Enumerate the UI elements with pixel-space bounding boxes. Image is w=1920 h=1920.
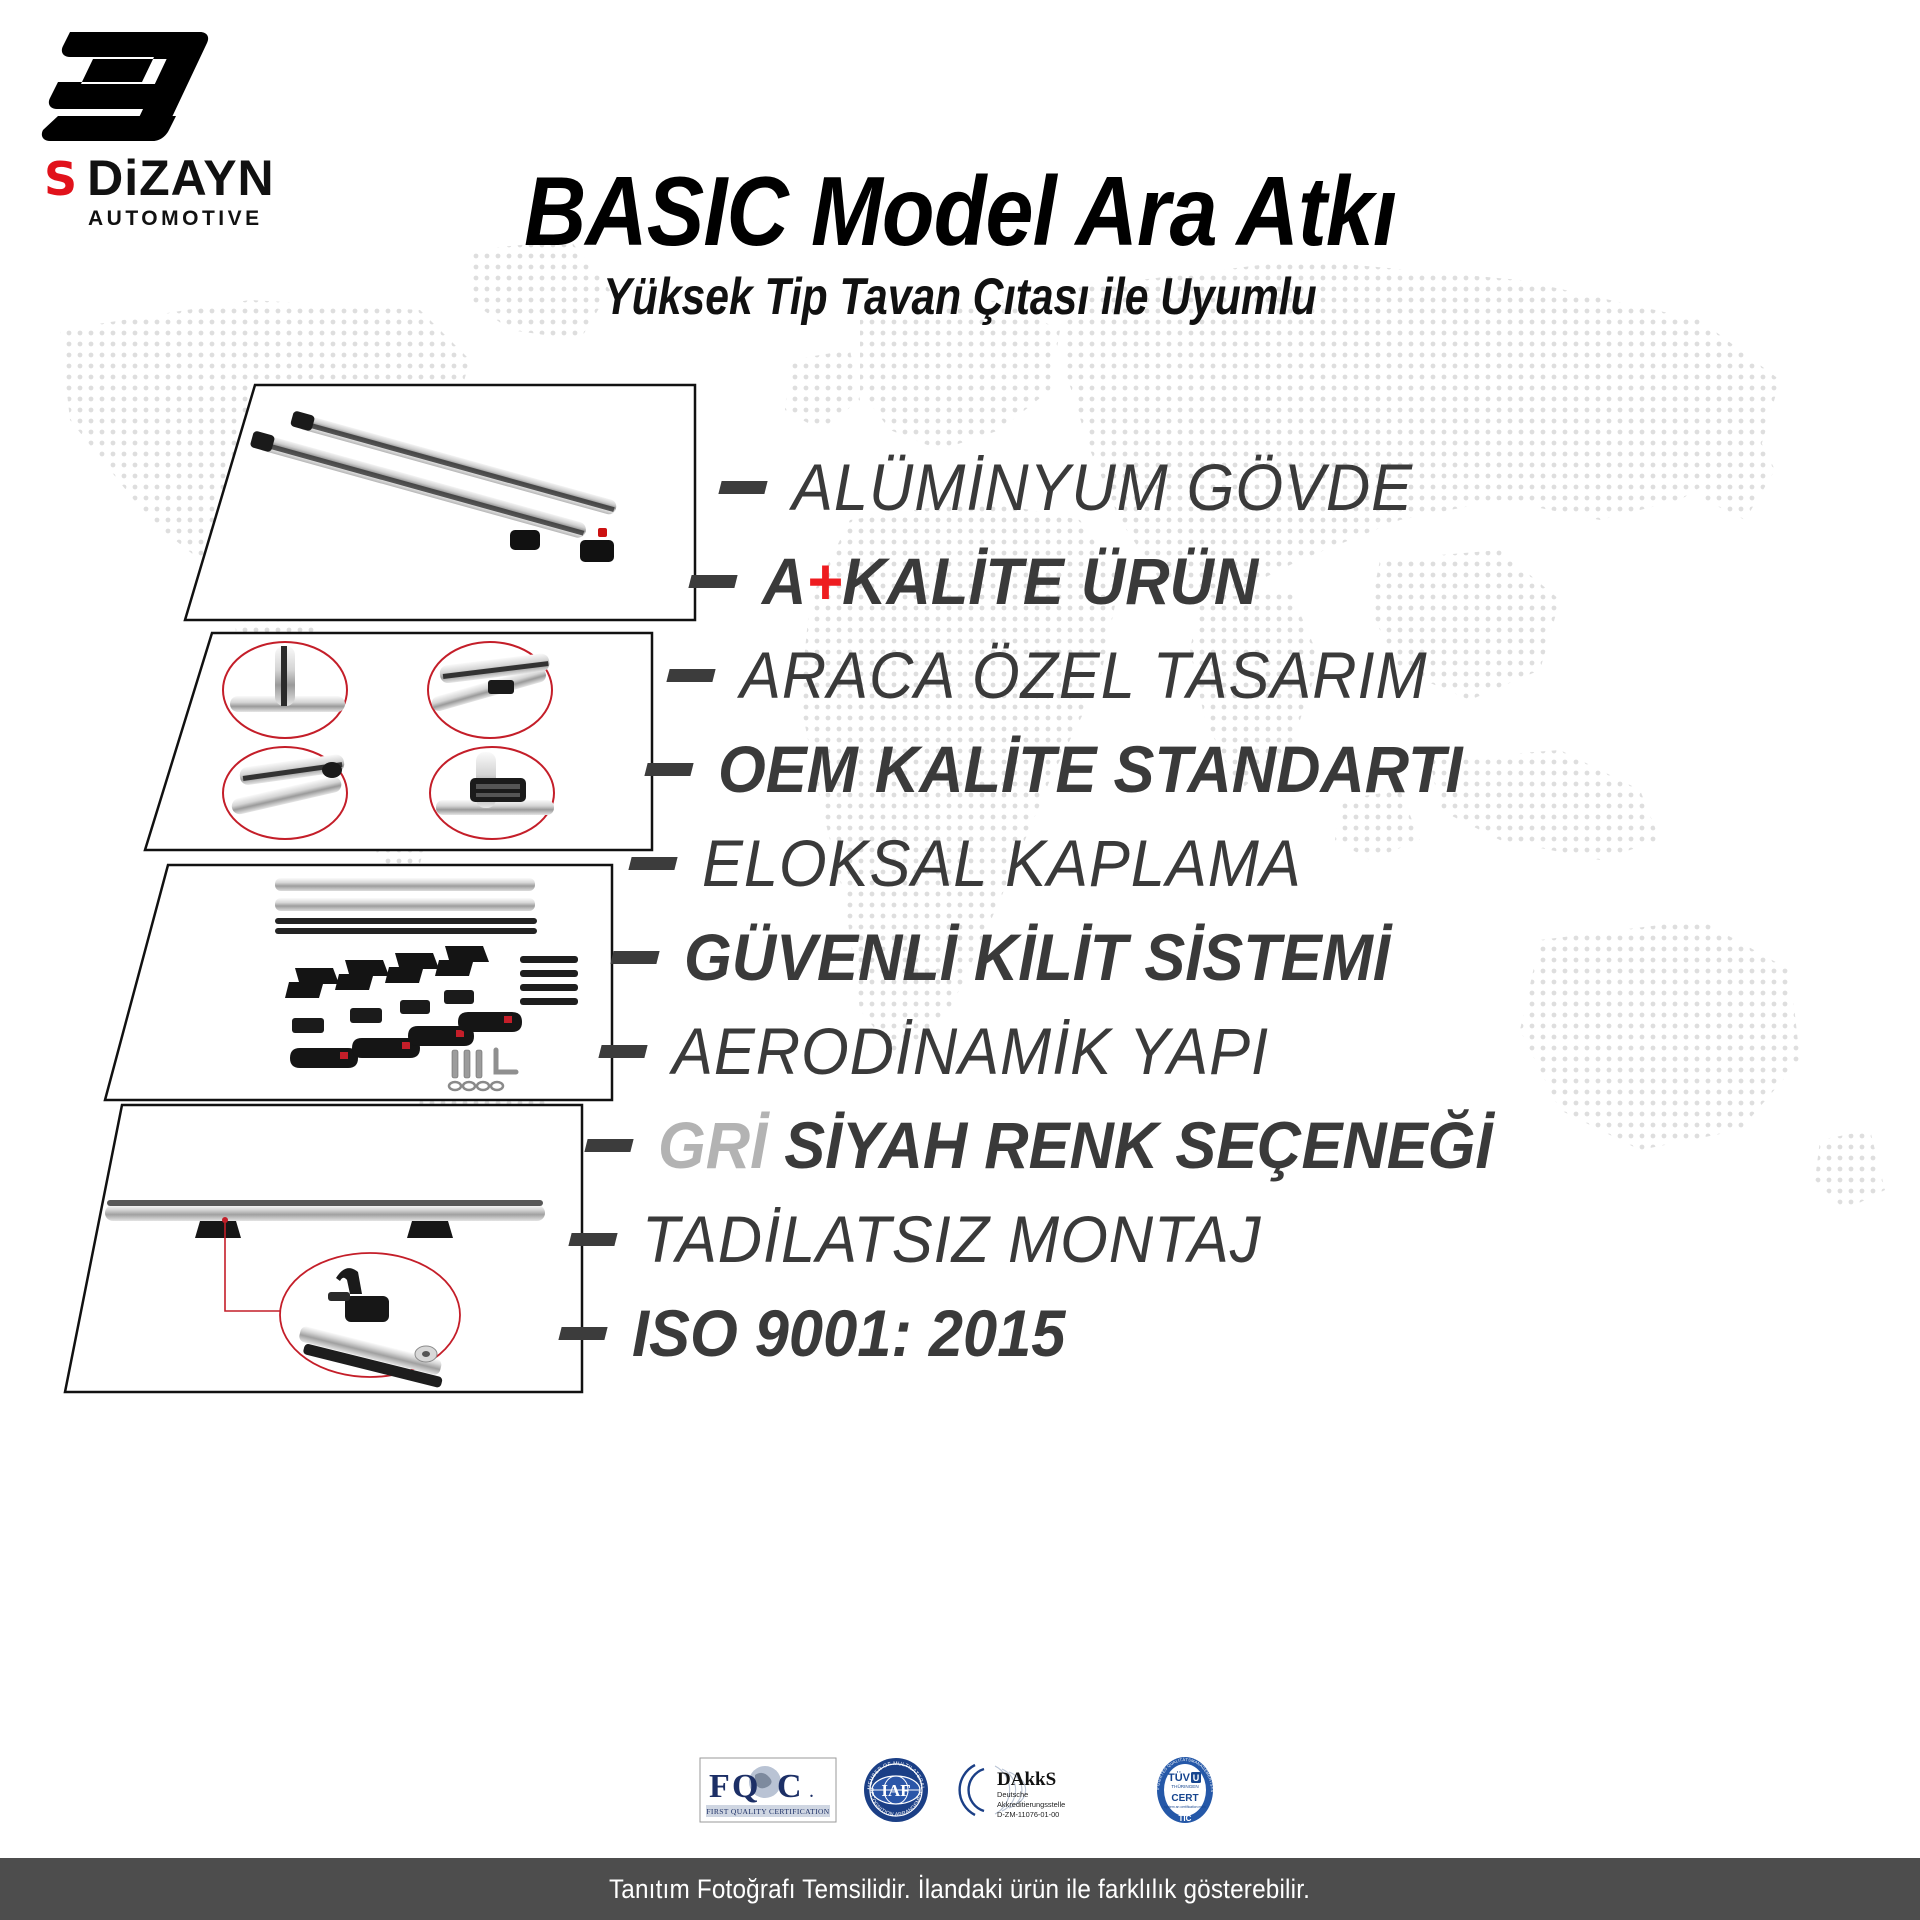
feature-item: ELOKSAL KAPLAMA — [630, 816, 1920, 910]
fqc-certification-badge: F Q C . FIRST QUALITY CERTIFICATION — [699, 1757, 837, 1823]
bullet-dash-icon — [718, 481, 767, 494]
feature-label-part: OEM KALİTE STANDARTI — [718, 732, 1463, 806]
feature-label-part: ELOKSAL KAPLAMA — [702, 826, 1302, 900]
svg-text:Deutsche: Deutsche — [997, 1790, 1028, 1799]
svg-text:IAF: IAF — [881, 1781, 910, 1800]
feature-label: GÜVENLİ KİLİT SİSTEMİ — [684, 924, 1390, 990]
svg-text:THÜRINGEN: THÜRINGEN — [1171, 1783, 1198, 1789]
bullet-dash-icon — [610, 951, 659, 964]
bullet-dash-icon — [598, 1045, 647, 1058]
feature-item: ALÜMİNYUM GÖVDE — [720, 440, 1920, 534]
feature-label: ELOKSAL KAPLAMA — [702, 830, 1302, 896]
certification-badges: F Q C . FIRST QUALITY CERTIFICATION IAF … — [0, 1755, 1920, 1825]
svg-text:system an certification mark: system an certification mark — [1164, 1805, 1206, 1809]
panel-kit-contents-parts — [100, 860, 620, 1110]
svg-text:.: . — [809, 1780, 814, 1802]
feature-label: AERODİNAMİK YAPI — [672, 1018, 1269, 1084]
svg-text:Akkreditierungsstelle: Akkreditierungsstelle — [997, 1800, 1065, 1809]
svg-text:F: F — [709, 1768, 730, 1805]
feature-label-part: TADİLATSIZ MONTAJ — [642, 1202, 1261, 1276]
feature-label-part: ARACA ÖZEL TASARIM — [740, 638, 1428, 712]
feature-label: ARACA ÖZEL TASARIM — [740, 642, 1428, 708]
feature-label-part: GÜVENLİ KİLİT SİSTEMİ — [684, 920, 1390, 994]
feature-item: GRİ SİYAH RENK SEÇENEĞİ — [586, 1098, 1920, 1192]
feature-label: GRİ SİYAH RENK SEÇENEĞİ — [658, 1112, 1492, 1178]
bullet-dash-icon — [644, 763, 693, 776]
bullet-dash-icon — [688, 575, 737, 588]
svg-text:D-ZM-11076-01-00: D-ZM-11076-01-00 — [997, 1810, 1059, 1819]
feature-item: ARACA ÖZEL TASARIM — [668, 628, 1920, 722]
panel-installed-roof-rail — [60, 1100, 590, 1400]
brand-logo: S DiZAYN AUTOMOTIVE — [28, 22, 328, 231]
svg-text:TIC: TIC — [1179, 1814, 1192, 1823]
feature-label: ALÜMİNYUM GÖVDE — [792, 454, 1413, 520]
feature-label-part: SİYAH RENK SEÇENEĞİ — [784, 1108, 1492, 1182]
page-title: BASIC Model Ara Atkı — [115, 160, 1805, 263]
feature-item: AERODİNAMİK YAPI — [600, 1004, 1920, 1098]
logo-tagline: AUTOMOTIVE — [88, 207, 328, 231]
feature-label: OEM KALİTE STANDARTI — [718, 736, 1463, 802]
svg-text:C: C — [777, 1768, 802, 1805]
footer-disclaimer: Tanıtım Fotoğrafı Temsilidir. İlandaki ü… — [609, 1874, 1310, 1905]
feature-label: TADİLATSIZ MONTAJ — [642, 1206, 1261, 1272]
dakks-certification-badge: DAkkS Deutsche Akkreditierungsstelle D-Z… — [955, 1757, 1123, 1823]
feature-label: A+KALİTE ÜRÜN — [762, 548, 1258, 614]
feature-label-part: KALİTE ÜRÜN — [842, 544, 1258, 618]
bullet-dash-icon — [558, 1327, 607, 1340]
bullet-dash-icon — [584, 1139, 633, 1152]
feature-label-part: A — [762, 544, 806, 618]
svg-text:FIRST QUALITY CERTIFICATION: FIRST QUALITY CERTIFICATION — [706, 1807, 829, 1816]
footer-bar: Tanıtım Fotoğrafı Temsilidir. İlandaki ü… — [0, 1858, 1920, 1920]
feature-list: ALÜMİNYUM GÖVDEA+KALİTE ÜRÜNARACA ÖZEL T… — [560, 440, 1920, 1380]
feature-label: ISO 9001: 2015 — [632, 1300, 1065, 1366]
feature-label-part: ALÜMİNYUM GÖVDE — [792, 450, 1413, 524]
svg-text:Q: Q — [732, 1768, 758, 1805]
feature-label-part: AERODİNAMİK YAPI — [672, 1014, 1269, 1088]
feature-label-part: ISO 9001: 2015 — [632, 1296, 1065, 1370]
feature-item: OEM KALİTE STANDARTI — [646, 722, 1920, 816]
bullet-dash-icon — [628, 857, 677, 870]
logo-brand-name: DiZAYN — [87, 153, 275, 203]
bullet-dash-icon — [666, 669, 715, 682]
feature-item: A+KALİTE ÜRÜN — [690, 534, 1920, 628]
tuv-cert-certification-badge: TÜV U THÜRINGEN CERT system an certifica… — [1149, 1755, 1221, 1825]
svg-text:DAkkS: DAkkS — [997, 1769, 1056, 1790]
feature-item: TADİLATSIZ MONTAJ — [570, 1192, 1920, 1286]
svg-text:TÜV: TÜV — [1168, 1771, 1191, 1784]
iaf-certification-badge: IAF MEMBER OF MULTILATERAL RECOGNITION A… — [863, 1757, 929, 1823]
svg-text:U: U — [1193, 1773, 1200, 1783]
s-dizayn-logo-mark — [28, 22, 238, 147]
page-subtitle: Yüksek Tip Tavan Çıtası ile Uyumlu — [173, 267, 1747, 327]
feature-item: ISO 9001: 2015 — [560, 1286, 1920, 1380]
feature-label-part: + — [806, 544, 842, 618]
bullet-dash-icon — [568, 1233, 617, 1246]
svg-text:CERT: CERT — [1171, 1793, 1198, 1804]
feature-item: GÜVENLİ KİLİT SİSTEMİ — [612, 910, 1920, 1004]
logo-s-letter: S — [44, 156, 75, 202]
feature-label-part: GRİ — [658, 1108, 784, 1182]
